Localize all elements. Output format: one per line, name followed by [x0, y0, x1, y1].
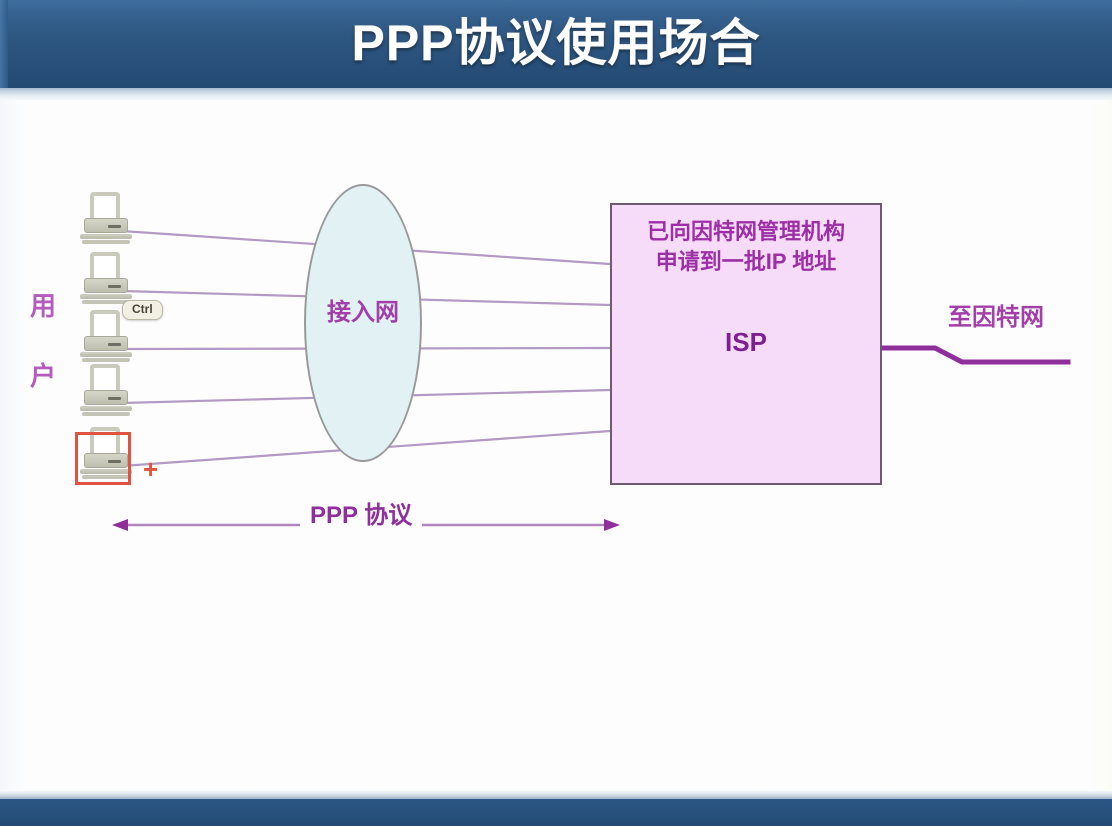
ppp-protocol-label: PPP 协议: [300, 503, 422, 529]
computer-drive-slot-icon: [108, 285, 121, 288]
slide-canvas: 用 户: [0, 100, 1112, 798]
user-computer-1[interactable]: [80, 192, 132, 246]
computer-body-icon: [84, 218, 128, 233]
computer-body-icon: [84, 336, 128, 351]
computer-base-shadow-icon: [82, 412, 130, 416]
internet-zigzag-link: [882, 348, 1068, 362]
isp-note-line-1: 已向因特网管理机构: [610, 217, 882, 247]
slide-title: PPP协议使用场合: [0, 6, 1112, 80]
computer-monitor-icon: [90, 310, 120, 338]
user-computer-2[interactable]: [80, 252, 132, 306]
footer-separator: [0, 790, 1112, 799]
user-computer-4[interactable]: [80, 364, 132, 418]
ppp-arrow-head-right: [604, 519, 620, 531]
presentation-slide: PPP协议使用场合: [0, 0, 1112, 826]
isp-name-label: ISP: [610, 327, 882, 358]
computer-base-icon: [80, 352, 132, 357]
user-label-char-1: 用: [30, 292, 56, 320]
plus-cursor-icon: +: [143, 456, 158, 482]
computer-monitor-icon: [90, 252, 120, 280]
computer-drive-slot-icon: [108, 397, 121, 400]
computer-base-shadow-icon: [82, 358, 130, 362]
computer-monitor-icon: [90, 192, 120, 220]
to-internet-label: 至因特网: [948, 305, 1044, 331]
computer-drive-slot-icon: [108, 343, 121, 346]
header-underline: [0, 88, 1112, 100]
computer-base-icon: [80, 294, 132, 299]
computer-body-icon: [84, 278, 128, 293]
computer-base-shadow-icon: [82, 240, 130, 244]
computer-drive-slot-icon: [108, 225, 121, 228]
computer-base-icon: [80, 234, 132, 239]
computer-body-icon: [84, 390, 128, 405]
selection-rectangle[interactable]: [75, 432, 131, 485]
isp-note: 已向因特网管理机构 申请到一批IP 地址: [610, 217, 882, 277]
computer-monitor-icon: [90, 364, 120, 392]
access-network-label: 接入网: [304, 300, 422, 326]
slide-footer-band: [0, 799, 1112, 826]
ppp-arrow-head-left: [112, 519, 128, 531]
computer-base-icon: [80, 406, 132, 411]
user-label-char-2: 户: [30, 362, 56, 390]
diagram-connectors: [0, 100, 1112, 798]
isp-note-line-2: 申请到一批IP 地址: [610, 247, 882, 277]
ctrl-key-tooltip: Ctrl: [122, 300, 163, 320]
